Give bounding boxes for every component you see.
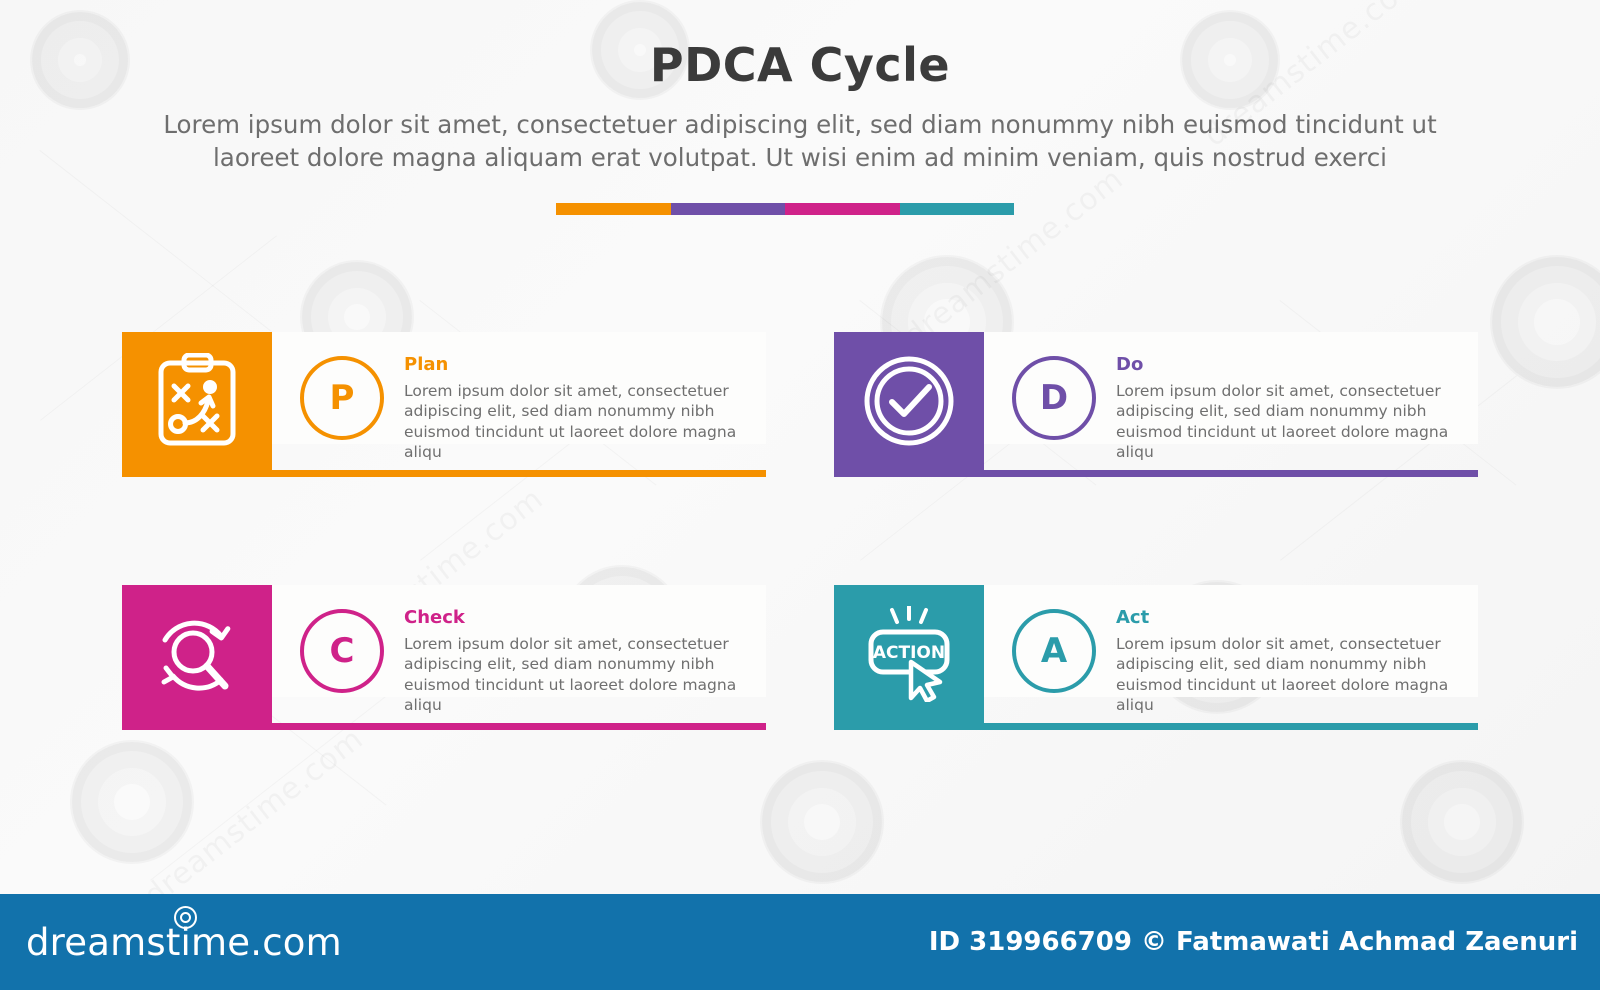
card-plan-text: Plan Lorem ipsum dolor sit amet, consect… bbox=[404, 354, 760, 463]
divider-segment-do bbox=[671, 203, 786, 215]
divider-segment-act bbox=[900, 203, 1015, 215]
card-plan-letter-badge: P bbox=[300, 356, 384, 440]
dreamstime-spiral-icon bbox=[174, 906, 197, 929]
card-do-description: Lorem ipsum dolor sit amet, consectetuer… bbox=[1116, 381, 1461, 463]
card-check-text: Check Lorem ipsum dolor sit amet, consec… bbox=[404, 607, 760, 716]
card-check-accent-bar bbox=[122, 723, 766, 730]
check-circle-icon bbox=[863, 355, 955, 447]
card-act-icon-box: ACTION bbox=[834, 585, 984, 723]
card-check-heading: Check bbox=[404, 607, 760, 628]
cards-grid: P Plan Lorem ipsum dolor sit amet, conse… bbox=[122, 332, 1478, 730]
watermark-spiral-icon bbox=[1490, 255, 1600, 389]
cards-row-bottom: C Check Lorem ipsum dolor sit amet, cons… bbox=[122, 585, 1478, 730]
footer-bar: dreamstime.com ID 319966709 © Fatmawati … bbox=[0, 894, 1600, 990]
dreamstime-logo[interactable]: dreamstime.com bbox=[26, 921, 342, 964]
card-act-letter-badge: A bbox=[1012, 609, 1096, 693]
card-check[interactable]: C Check Lorem ipsum dolor sit amet, cons… bbox=[122, 585, 766, 730]
card-do-text: Do Lorem ipsum dolor sit amet, consectet… bbox=[1116, 354, 1472, 463]
divider-segment-plan bbox=[556, 203, 671, 215]
magnifier-refresh-icon bbox=[149, 608, 245, 700]
clipboard-strategy-icon bbox=[153, 353, 241, 449]
card-act-accent-bar bbox=[834, 723, 1478, 730]
card-do-accent-bar bbox=[834, 470, 1478, 477]
watermark-spiral-icon bbox=[1400, 760, 1524, 884]
card-plan-heading: Plan bbox=[404, 354, 760, 375]
page-title: PDCA Cycle bbox=[0, 0, 1600, 92]
card-act-text: Act Lorem ipsum dolor sit amet, consecte… bbox=[1116, 607, 1472, 716]
watermark-spiral-icon bbox=[70, 740, 194, 864]
card-act-description: Lorem ipsum dolor sit amet, consectetuer… bbox=[1116, 634, 1461, 716]
card-do[interactable]: D Do Lorem ipsum dolor sit amet, consect… bbox=[834, 332, 1478, 477]
infographic-canvas: dreamstime.com dreamstime.com dreamstime… bbox=[0, 0, 1600, 990]
card-plan-letter: P bbox=[330, 378, 355, 418]
divider-segment-check bbox=[785, 203, 900, 215]
card-check-letter: C bbox=[330, 631, 355, 671]
card-check-letter-badge: C bbox=[300, 609, 384, 693]
card-check-description: Lorem ipsum dolor sit amet, consectetuer… bbox=[404, 634, 749, 716]
card-plan-accent-bar bbox=[122, 470, 766, 477]
card-act-letter: A bbox=[1041, 631, 1067, 671]
card-act-heading: Act bbox=[1116, 607, 1472, 628]
header: PDCA Cycle Lorem ipsum dolor sit amet, c… bbox=[0, 0, 1600, 174]
card-do-letter: D bbox=[1040, 378, 1068, 418]
watermark-line bbox=[39, 150, 276, 335]
card-plan-description: Lorem ipsum dolor sit amet, consectetuer… bbox=[404, 381, 749, 463]
image-credit: ID 319966709 © Fatmawati Achmad Zaenuri bbox=[929, 927, 1578, 957]
watermark-spiral-icon bbox=[760, 760, 884, 884]
action-button-cursor-icon: ACTION bbox=[859, 606, 959, 702]
watermark-text: dreamstime.com bbox=[898, 161, 1131, 353]
card-do-heading: Do bbox=[1116, 354, 1472, 375]
card-do-letter-badge: D bbox=[1012, 356, 1096, 440]
cards-row-top: P Plan Lorem ipsum dolor sit amet, conse… bbox=[122, 332, 1478, 477]
card-act[interactable]: ACTION A Act Lorem ipsum dolor sit amet,… bbox=[834, 585, 1478, 730]
color-divider bbox=[556, 203, 1014, 215]
card-plan-icon-box bbox=[122, 332, 272, 470]
action-button-label: ACTION bbox=[873, 643, 945, 663]
card-plan[interactable]: P Plan Lorem ipsum dolor sit amet, conse… bbox=[122, 332, 766, 477]
watermark-text: dreamstime.com bbox=[138, 721, 371, 913]
card-do-icon-box bbox=[834, 332, 984, 470]
page-subtitle: Lorem ipsum dolor sit amet, consectetuer… bbox=[120, 108, 1480, 174]
card-check-icon-box bbox=[122, 585, 272, 723]
